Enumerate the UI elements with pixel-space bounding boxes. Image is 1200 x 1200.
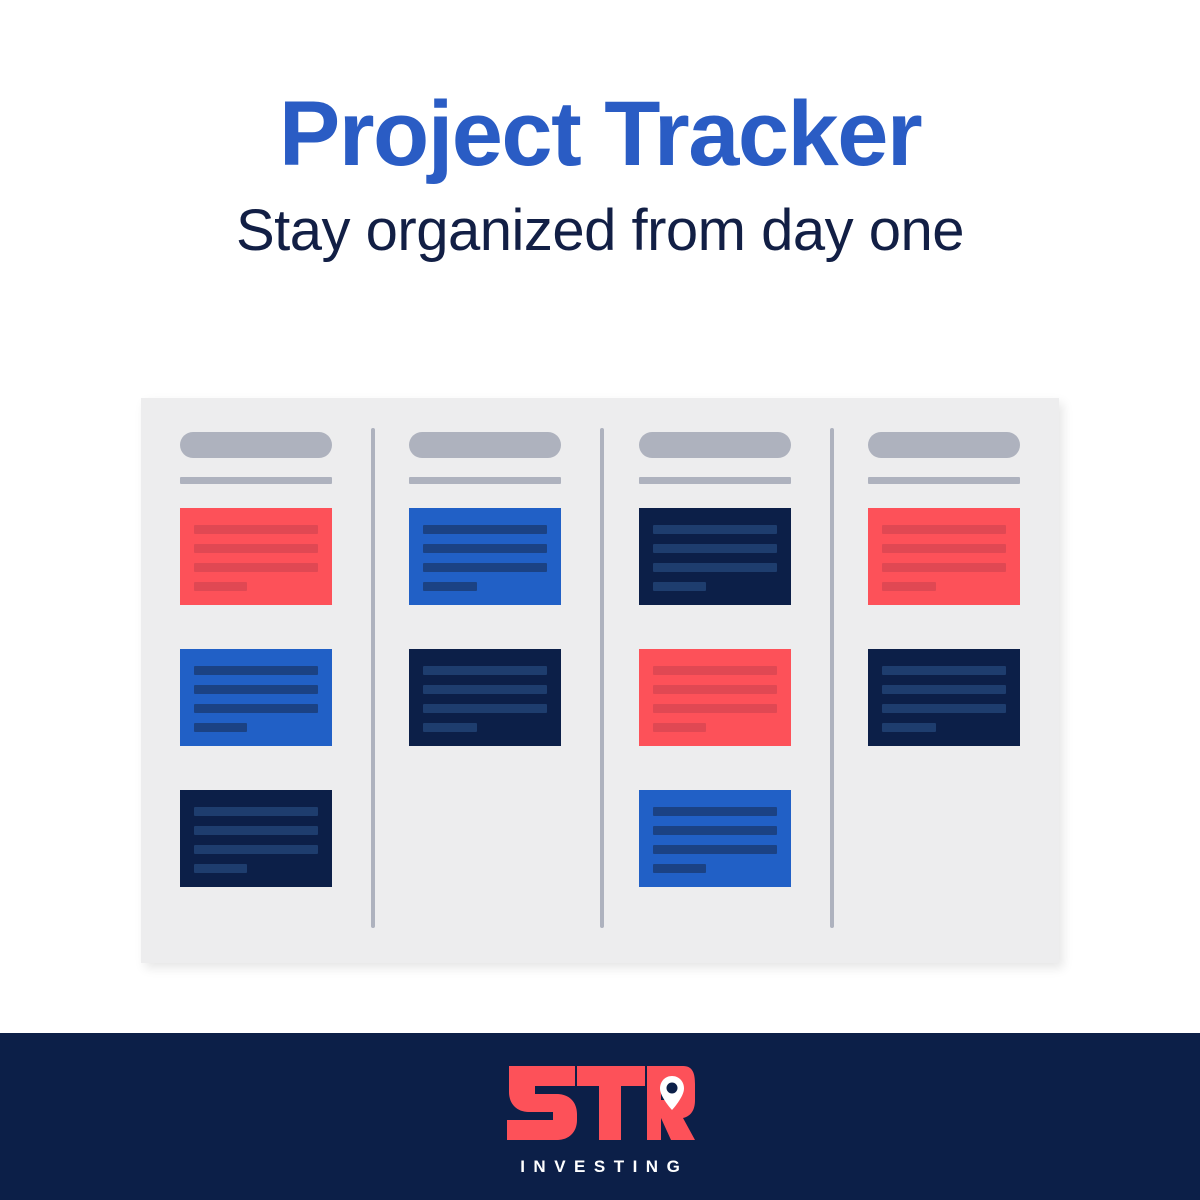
kanban-card[interactable] [868,649,1020,746]
page-subtitle: Stay organized from day one [0,180,1200,260]
kanban-card-list [409,508,561,746]
kanban-card[interactable] [639,508,791,605]
card-text-placeholder [882,525,1006,534]
card-text-placeholder [882,666,1006,675]
card-text-placeholder [423,525,547,534]
card-text-placeholder [194,826,318,835]
card-text-placeholder [882,685,1006,694]
card-text-placeholder [194,704,318,713]
kanban-card[interactable] [409,649,561,746]
card-text-placeholder [653,563,777,572]
card-text-placeholder [423,685,547,694]
card-text-placeholder [882,704,1006,713]
card-text-placeholder [653,582,706,591]
card-text-placeholder [653,864,706,873]
card-text-placeholder [423,704,547,713]
column-title-placeholder[interactable] [180,432,332,458]
kanban-columns [141,398,1059,963]
kanban-column[interactable] [600,398,830,963]
column-title-placeholder[interactable] [409,432,561,458]
footer-bar: INVESTING [0,1033,1200,1200]
kanban-card[interactable] [180,790,332,887]
card-text-placeholder [653,845,777,854]
page-title: Project Tracker [0,0,1200,180]
card-text-placeholder [653,723,706,732]
kanban-card[interactable] [639,649,791,746]
kanban-board-wrapper [141,398,1059,963]
column-subtitle-placeholder [180,477,332,484]
page-header: Project Tracker Stay organized from day … [0,0,1200,340]
card-text-placeholder [194,845,318,854]
logo-wordmark: INVESTING [512,1157,689,1177]
card-text-placeholder [194,563,318,572]
kanban-card[interactable] [868,508,1020,605]
card-text-placeholder [653,666,777,675]
card-text-placeholder [423,666,547,675]
kanban-board [141,398,1059,963]
card-text-placeholder [194,807,318,816]
kanban-column[interactable] [141,398,371,963]
kanban-card-list [180,508,332,887]
card-text-placeholder [653,826,777,835]
card-text-placeholder [653,685,777,694]
kanban-column[interactable] [371,398,601,963]
card-text-placeholder [653,525,777,534]
card-text-placeholder [882,582,935,591]
kanban-column-inner [639,432,791,887]
column-title-placeholder[interactable] [639,432,791,458]
card-text-placeholder [194,544,318,553]
kanban-card[interactable] [639,790,791,887]
card-text-placeholder [423,723,476,732]
card-text-placeholder [653,544,777,553]
card-text-placeholder [194,864,247,873]
kanban-card[interactable] [180,508,332,605]
card-text-placeholder [882,544,1006,553]
kanban-column-inner [180,432,332,887]
kanban-column[interactable] [830,398,1060,963]
column-subtitle-placeholder [409,477,561,484]
card-text-placeholder [423,544,547,553]
column-subtitle-placeholder [639,477,791,484]
column-subtitle-placeholder [868,477,1020,484]
card-text-placeholder [653,807,777,816]
column-title-placeholder[interactable] [868,432,1020,458]
kanban-column-inner [868,432,1020,746]
card-text-placeholder [423,563,547,572]
card-text-placeholder [194,582,247,591]
card-text-placeholder [194,685,318,694]
card-text-placeholder [882,563,1006,572]
kanban-card[interactable] [180,649,332,746]
card-text-placeholder [653,704,777,713]
kanban-card-list [868,508,1020,746]
kanban-card-list [639,508,791,887]
card-text-placeholder [423,582,476,591]
kanban-card[interactable] [409,508,561,605]
card-text-placeholder [194,723,247,732]
card-text-placeholder [194,525,318,534]
kanban-column-inner [409,432,561,746]
str-logo-icon [505,1056,695,1148]
card-text-placeholder [882,723,935,732]
card-text-placeholder [194,666,318,675]
